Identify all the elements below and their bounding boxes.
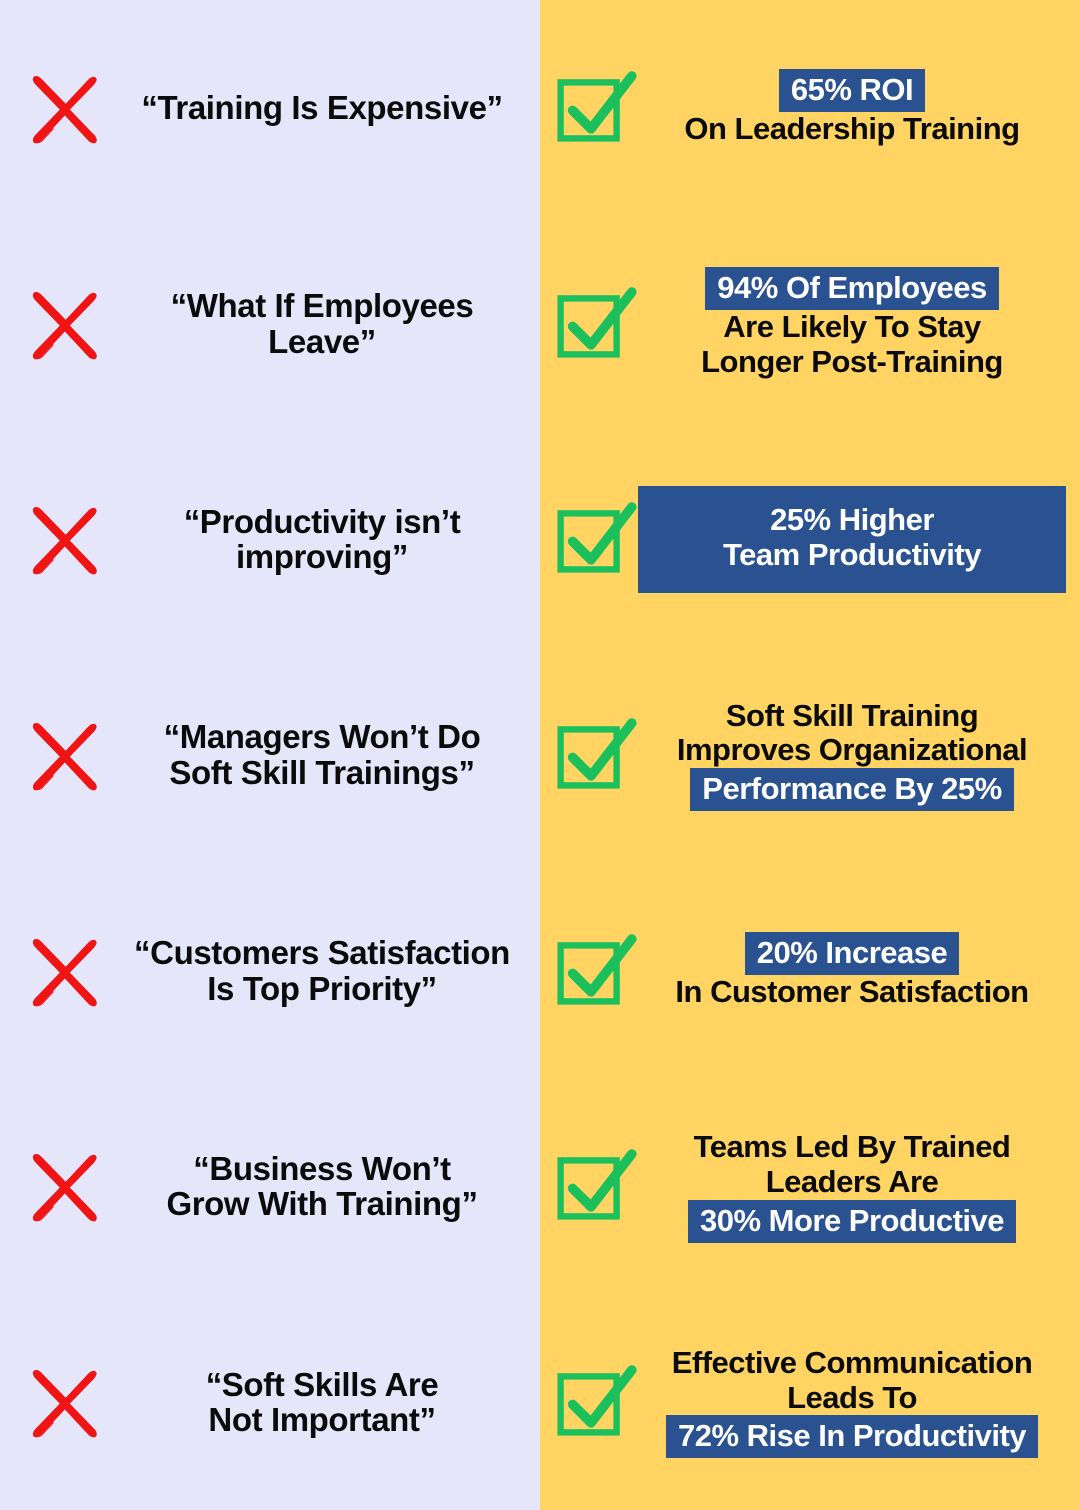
myth-row: “Managers Won’t DoSoft Skill Trainings” [0,647,540,863]
green-checkbox-icon [555,499,635,579]
fact-statement: 25% HigherTeam Productivity [638,486,1066,593]
myths-vs-facts-infographic: “Training Is Expensive”“What If Employee… [0,0,1080,1510]
stat-badge: 72% Rise In Productivity [666,1415,1038,1458]
myth-row: “What If EmployeesLeave” [0,216,540,432]
fact-line: 25% Higher [648,502,1056,537]
myth-line: Soft Skill Trainings” [114,755,530,791]
red-cross-icon [22,282,106,366]
myth-statement: “Managers Won’t DoSoft Skill Trainings” [110,719,534,790]
myth-line: “Soft Skills Are [114,1367,530,1403]
green-checkbox-icon [552,493,638,585]
fact-statement: Teams Led By TrainedLeaders Are30% More … [638,1130,1066,1243]
myth-row: “Soft Skills AreNot Important” [0,1294,540,1510]
stat-badge: 65% ROI [779,69,925,112]
red-cross-icon [18,62,110,154]
fact-row: 94% Of EmployeesAre Likely To StayLonger… [540,216,1080,432]
fact-statement: Effective CommunicationLeads To72% Rise … [638,1346,1066,1459]
stat-badge: 30% More Productive [688,1200,1016,1243]
myth-line: Grow With Training” [114,1186,530,1222]
green-checkbox-icon [555,1362,635,1442]
green-checkbox-icon [555,284,635,364]
fact-stat-highlight: 20% Increase [640,932,1064,975]
green-checkbox-icon [552,62,638,154]
fact-line: Improves Organizational [640,733,1064,768]
red-cross-icon [22,1144,106,1228]
fact-line: Longer Post-Training [640,345,1064,380]
red-cross-icon [18,709,110,801]
green-checkbox-icon [552,1140,638,1232]
myth-row: “Customers SatisfactionIs Top Priority” [0,863,540,1079]
myth-statement: “Productivity isn’timproving” [110,504,534,575]
red-cross-icon [18,1140,110,1232]
green-checkbox-icon [552,925,638,1017]
myth-statement: “Soft Skills AreNot Important” [110,1367,534,1438]
fact-statement: Soft Skill TrainingImproves Organization… [638,699,1066,812]
myth-statement: “Business Won’tGrow With Training” [110,1151,534,1222]
stat-badge: 20% Increase [745,932,959,975]
myth-statement: “What If EmployeesLeave” [110,288,534,359]
myth-row: “Productivity isn’timproving” [0,431,540,647]
red-cross-icon [22,1360,106,1444]
fact-stat-highlight: 72% Rise In Productivity [640,1415,1064,1458]
red-cross-icon [22,66,106,150]
fact-stat-highlight: 30% More Productive [640,1200,1064,1243]
stat-badge: Performance By 25% [690,768,1013,811]
fact-row: Soft Skill TrainingImproves Organization… [540,647,1080,863]
myth-line: “Training Is Expensive” [114,90,530,126]
myth-line: “Business Won’t [114,1151,530,1187]
facts-column: 65% ROIOn Leadership Training94% Of Empl… [540,0,1080,1510]
fact-statement: 65% ROIOn Leadership Training [638,69,1066,147]
fact-line: Effective Communication [640,1346,1064,1381]
myth-line: “Productivity isn’t [114,504,530,540]
green-checkbox-icon [555,68,635,148]
red-cross-icon [18,493,110,585]
red-cross-icon [22,929,106,1013]
fact-stat-highlight: 65% ROI [640,69,1064,112]
fact-row: Teams Led By TrainedLeaders Are30% More … [540,1079,1080,1295]
fact-statement: 94% Of EmployeesAre Likely To StayLonger… [638,267,1066,380]
fact-row: Effective CommunicationLeads To72% Rise … [540,1294,1080,1510]
myth-row: “Training Is Expensive” [0,0,540,216]
myth-statement: “Training Is Expensive” [110,90,534,126]
green-checkbox-icon [555,1146,635,1226]
fact-line: Leads To [640,1381,1064,1416]
fact-line: Teams Led By Trained [640,1130,1064,1165]
myth-line: Is Top Priority” [114,971,530,1007]
myth-line: “Managers Won’t Do [114,719,530,755]
green-checkbox-icon [552,709,638,801]
fact-stat-highlight: 94% Of Employees [640,267,1064,310]
green-checkbox-icon [555,715,635,795]
fact-row: 65% ROIOn Leadership Training [540,0,1080,216]
red-cross-icon [22,497,106,581]
fact-line: Soft Skill Training [640,699,1064,734]
myth-line: “Customers Satisfaction [114,935,530,971]
red-cross-icon [22,713,106,797]
red-cross-icon [18,1356,110,1448]
myths-column: “Training Is Expensive”“What If Employee… [0,0,540,1510]
myth-line: Not Important” [114,1402,530,1438]
fact-row: 25% HigherTeam Productivity [540,431,1080,647]
red-cross-icon [18,278,110,370]
myth-statement: “Customers SatisfactionIs Top Priority” [110,935,534,1006]
fact-line: In Customer Satisfaction [640,975,1064,1010]
fact-line: Team Productivity [648,537,1056,572]
myth-line: improving” [114,539,530,575]
red-cross-icon [18,925,110,1017]
myth-line: “What If Employees [114,288,530,324]
fact-line: Are Likely To Stay [640,310,1064,345]
fact-row: 20% IncreaseIn Customer Satisfaction [540,863,1080,1079]
fact-stat-highlight: Performance By 25% [640,768,1064,811]
fact-statement: 20% IncreaseIn Customer Satisfaction [638,932,1066,1010]
green-checkbox-icon [552,1356,638,1448]
fact-line: On Leadership Training [640,112,1064,147]
fact-line: Leaders Are [640,1165,1064,1200]
green-checkbox-icon [552,278,638,370]
green-checkbox-icon [555,931,635,1011]
stat-badge: 94% Of Employees [705,267,998,310]
myth-row: “Business Won’tGrow With Training” [0,1079,540,1295]
myth-line: Leave” [114,324,530,360]
